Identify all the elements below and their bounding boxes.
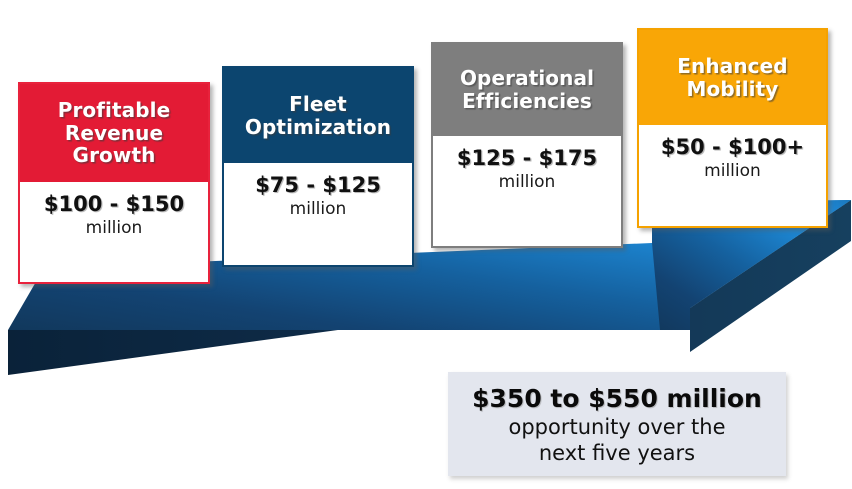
callout-headline: $350 to $550 million — [472, 384, 762, 414]
card-title-line: Profitable — [58, 98, 171, 122]
card-amount: $50 - $100+ — [661, 135, 804, 160]
card-header-profitable-revenue-growth: Profitable Revenue Growth — [20, 84, 208, 182]
slide-canvas: Profitable Revenue Growth $100 - $150 mi… — [0, 0, 852, 489]
card-body-enhanced-mobility: $50 - $100+ million — [639, 125, 826, 226]
card-title-line: Mobility — [687, 77, 779, 101]
card-unit: million — [86, 218, 143, 238]
card-title-line: Growth — [73, 143, 156, 167]
pillar-card-fleet-optimization[interactable]: Fleet Optimization $75 - $125 million — [222, 66, 414, 267]
card-header-operational-efficiencies: Operational Efficiencies — [433, 44, 621, 136]
card-title-line: Revenue — [65, 121, 163, 145]
card-header-fleet-optimization: Fleet Optimization — [224, 68, 412, 163]
card-amount: $125 - $175 — [457, 146, 597, 171]
summary-callout: $350 to $550 million opportunity over th… — [448, 372, 786, 476]
card-unit: million — [290, 199, 347, 219]
pillar-card-enhanced-mobility[interactable]: Enhanced Mobility $50 - $100+ million — [637, 28, 828, 228]
pillar-card-profitable-revenue-growth[interactable]: Profitable Revenue Growth $100 - $150 mi… — [18, 82, 210, 284]
card-amount: $100 - $150 — [44, 192, 184, 217]
card-unit: million — [704, 161, 761, 181]
pillar-card-operational-efficiencies[interactable]: Operational Efficiencies $125 - $175 mil… — [431, 42, 623, 248]
card-amount: $75 - $125 — [255, 173, 381, 198]
card-body-operational-efficiencies: $125 - $175 million — [433, 136, 621, 246]
card-header-enhanced-mobility: Enhanced Mobility — [639, 30, 826, 125]
callout-subline-1: opportunity over the — [509, 414, 726, 440]
card-title-line: Fleet — [289, 92, 347, 116]
card-unit: million — [499, 172, 556, 192]
callout-subline-2: next five years — [539, 440, 695, 466]
card-title-line: Operational — [460, 66, 594, 90]
card-body-profitable-revenue-growth: $100 - $150 million — [20, 182, 208, 282]
card-body-fleet-optimization: $75 - $125 million — [224, 163, 412, 265]
card-title-line: Optimization — [245, 115, 391, 139]
card-title-line: Enhanced — [677, 54, 787, 78]
card-title-line: Efficiencies — [462, 89, 592, 113]
